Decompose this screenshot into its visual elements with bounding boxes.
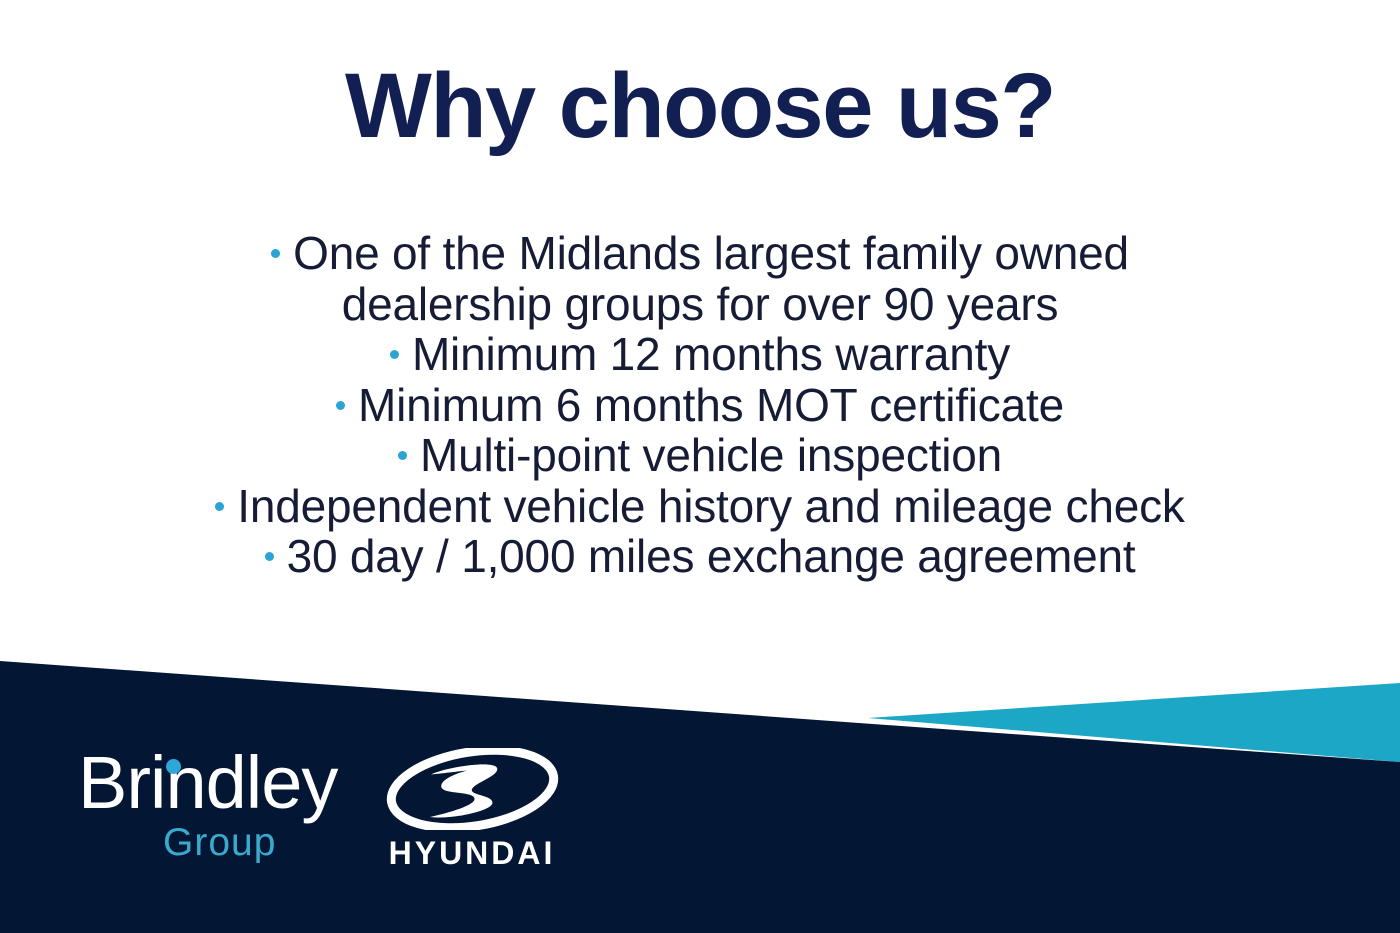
list-item-label: Minimum 12 months warranty [412, 328, 1010, 380]
list-item: Minimum 6 months MOT certificate [0, 380, 1400, 431]
list-item: Minimum 12 months warranty [0, 329, 1400, 380]
brindley-dot-icon [166, 759, 181, 774]
list-item-label: Minimum 6 months MOT certificate [358, 379, 1064, 431]
hyundai-emblem-svg [380, 748, 565, 830]
list-item-label: 30 day / 1,000 miles exchange agreement [287, 530, 1136, 582]
brindley-subtext: Group [163, 822, 276, 864]
list-item: Independent vehicle history and mileage … [0, 481, 1400, 532]
list-item-continuation: dealership groups for over 90 years [0, 279, 1400, 330]
list-item: Multi-point vehicle inspection [0, 430, 1400, 481]
list-item-label: Multi-point vehicle inspection [420, 429, 1002, 481]
hyundai-wordmark: HYUNDAI [372, 836, 572, 870]
bullet-dot-icon [390, 350, 399, 359]
brindley-group-logo[interactable]: Brindley Group [78, 742, 348, 882]
bullet-dot-icon [265, 552, 274, 561]
content-area: Why choose us? One of the Midlands large… [0, 0, 1400, 661]
hyundai-oval-h-icon [380, 748, 565, 830]
slide-root: Why choose us? One of the Midlands large… [0, 0, 1400, 933]
bullet-dot-icon [336, 401, 345, 410]
list-item-label: Independent vehicle history and mileage … [237, 480, 1184, 532]
bullet-dot-icon [271, 249, 280, 258]
list-item-label: One of the Midlands largest family owned [293, 227, 1129, 279]
bullet-dot-icon [398, 451, 407, 460]
benefits-list: One of the Midlands largest family owned… [0, 228, 1400, 582]
hyundai-logo[interactable]: HYUNDAI [372, 748, 572, 878]
brindley-wordmark: Brindley [78, 742, 337, 824]
list-item-label: dealership groups for over 90 years [342, 278, 1059, 330]
list-item: One of the Midlands largest family owned [0, 228, 1400, 279]
list-item: 30 day / 1,000 miles exchange agreement [0, 531, 1400, 582]
bullet-dot-icon [215, 502, 224, 511]
page-title: Why choose us? [0, 58, 1400, 155]
